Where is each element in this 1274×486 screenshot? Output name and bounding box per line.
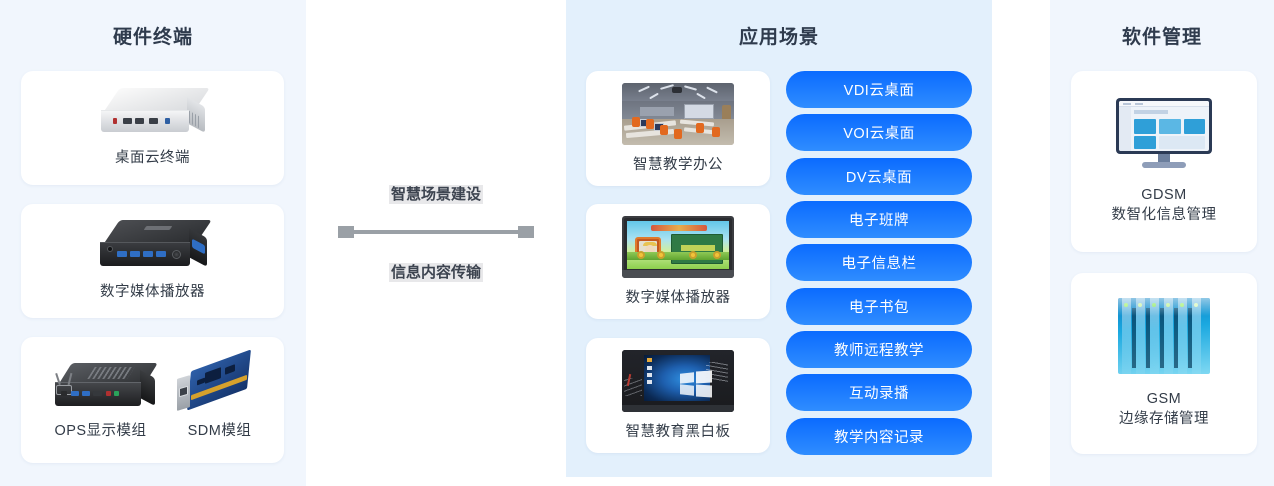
- hardware-card-label: 桌面云终端: [115, 149, 190, 169]
- software-card-gsm[interactable]: GSM 边缘存储管理: [1071, 273, 1257, 454]
- hardware-card-media-player[interactable]: 数字媒体播放器: [21, 204, 284, 318]
- scenario-card-smart-whiteboard[interactable]: 智慧教育黑白板: [586, 338, 770, 453]
- software-card-name: GSM: [1147, 391, 1182, 407]
- scenario-card-smart-classroom[interactable]: 智慧教学办公: [586, 71, 770, 186]
- scenario-button-remote-teach[interactable]: 教师远程教学: [786, 331, 972, 368]
- thin-client-device-icon: [99, 88, 207, 140]
- software-card-name: GDSM: [1141, 187, 1187, 203]
- software-card-desc: 数智化信息管理: [1112, 206, 1217, 226]
- scenario-card-digital-signage[interactable]: 数字媒体播放器: [586, 204, 770, 319]
- middle-bottom-label-text: 信息内容传输: [389, 263, 483, 282]
- middle-top-label-text: 智慧场景建设: [389, 185, 483, 204]
- hardware-card-modules[interactable]: OPS显示模组 SDM模组: [21, 337, 284, 463]
- digital-media-player-icon: [97, 220, 209, 274]
- scenario-button-class-card[interactable]: 电子班牌: [786, 201, 972, 238]
- software-card-label: GSM 边缘存储管理: [1119, 390, 1209, 429]
- software-column-title: 软件管理: [1050, 22, 1274, 49]
- scenario-card-label: 智慧教学办公: [633, 153, 723, 174]
- diagram-canvas: 硬件终端 桌面云终端 数字媒体播放器: [0, 0, 1274, 486]
- scenario-card-label: 数字媒体播放器: [626, 286, 731, 307]
- hardware-card-label: 数字媒体播放器: [100, 283, 205, 303]
- scenario-button-dv[interactable]: DV云桌面: [786, 158, 972, 195]
- scenario-button-content-log[interactable]: 教学内容记录: [786, 418, 972, 455]
- digital-signage-photo: [622, 216, 734, 278]
- scenario-button-voi[interactable]: VOI云桌面: [786, 114, 972, 151]
- module-label-ops: OPS显示模组: [46, 422, 156, 442]
- smart-whiteboard-photo: [622, 350, 734, 412]
- software-card-gdsm[interactable]: GDSM 数智化信息管理: [1071, 71, 1257, 252]
- smart-classroom-photo: [622, 83, 734, 145]
- scenario-button-ebag[interactable]: 电子书包: [786, 288, 972, 325]
- middle-bottom-label: 信息内容传输: [306, 261, 566, 282]
- server-rack-icon: [1118, 298, 1210, 374]
- sdm-module-icon: [175, 359, 253, 413]
- ops-module-icon: [53, 363, 157, 413]
- software-card-desc: 边缘存储管理: [1119, 410, 1209, 430]
- hardware-column-title: 硬件终端: [0, 22, 306, 49]
- bidirectional-arrow-icon: [338, 225, 534, 239]
- middle-connector-panel: [306, 0, 566, 486]
- scenario-card-label: 智慧教育黑白板: [626, 420, 731, 441]
- scenario-button-info-board[interactable]: 电子信息栏: [786, 244, 972, 281]
- monitor-dashboard-icon: [1116, 98, 1212, 170]
- hardware-card-thin-client[interactable]: 桌面云终端: [21, 71, 284, 185]
- middle-top-label: 智慧场景建设: [306, 183, 566, 204]
- software-card-label: GDSM 数智化信息管理: [1112, 186, 1217, 225]
- scenario-column-title: 应用场景: [566, 22, 992, 49]
- module-label-sdm: SDM模组: [180, 422, 260, 442]
- scenario-button-recording[interactable]: 互动录播: [786, 374, 972, 411]
- scenario-button-vdi[interactable]: VDI云桌面: [786, 71, 972, 108]
